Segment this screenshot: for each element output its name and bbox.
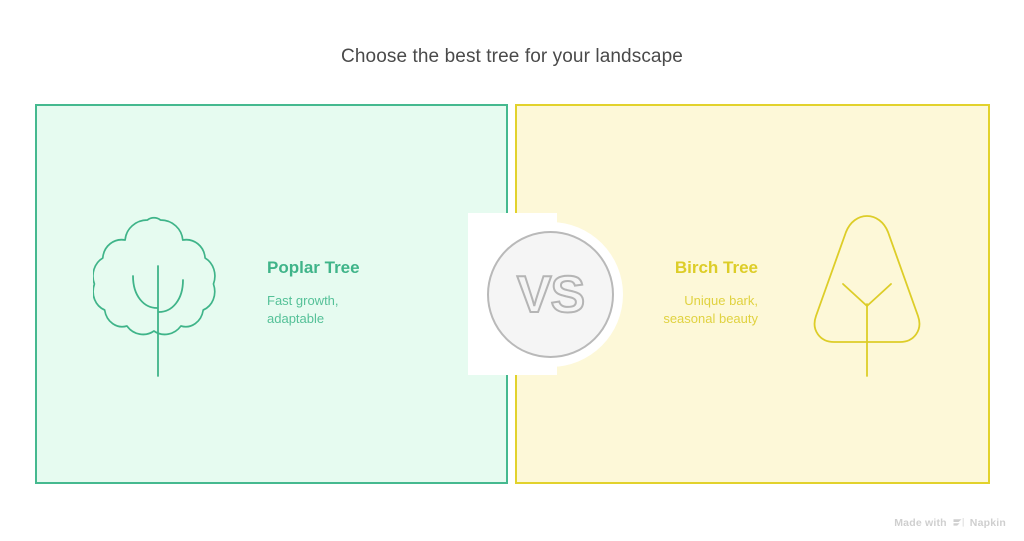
option-labels-left: Poplar Tree Fast growth, adaptable bbox=[223, 259, 472, 329]
page-title: Choose the best tree for your landscape bbox=[0, 46, 1024, 68]
versus-badge: VS bbox=[478, 222, 623, 367]
comparison-stage: Poplar Tree Fast growth, adaptable Birch… bbox=[35, 104, 990, 484]
comparison-option-poplar[interactable]: Poplar Tree Fast growth, adaptable bbox=[35, 104, 508, 484]
birch-tree-icon bbox=[802, 204, 932, 384]
napkin-logo-icon bbox=[952, 516, 965, 529]
option-content-left: Poplar Tree Fast growth, adaptable bbox=[37, 106, 506, 482]
option-description-poplar: Fast growth, adaptable bbox=[267, 292, 472, 329]
poplar-tree-icon bbox=[93, 204, 223, 384]
versus-label: VS bbox=[517, 269, 584, 321]
versus-disc: VS bbox=[487, 231, 614, 358]
option-title-poplar: Poplar Tree bbox=[267, 259, 472, 278]
napkin-watermark: Made with Napkin bbox=[894, 516, 1006, 529]
watermark-brand-label: Napkin bbox=[970, 517, 1006, 529]
watermark-made-with-label: Made with bbox=[894, 517, 947, 529]
